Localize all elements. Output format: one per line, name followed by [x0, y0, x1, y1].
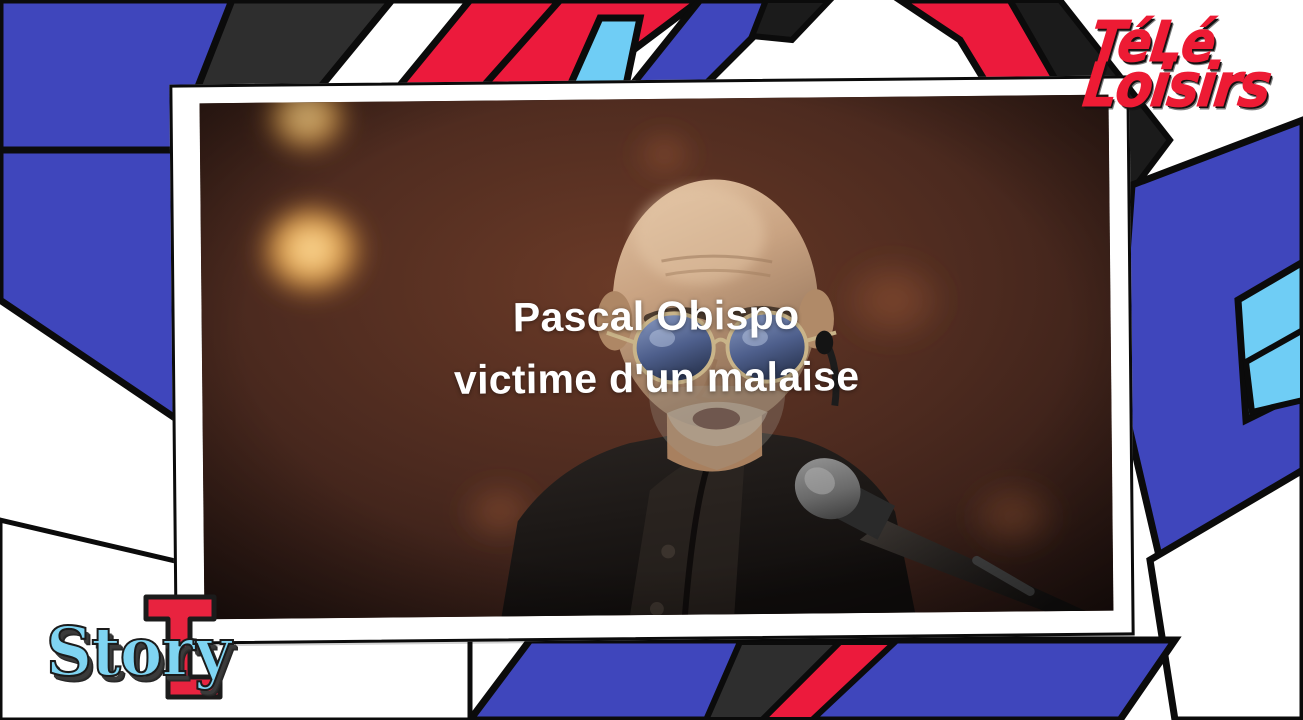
screenshot-root: Pascal Obispo victime d'un malaise TéLé … — [0, 0, 1303, 720]
stage-photo — [200, 95, 1114, 620]
video-card[interactable]: Pascal Obispo victime d'un malaise — [169, 75, 1134, 644]
video-frame[interactable]: Pascal Obispo victime d'un malaise — [200, 95, 1114, 620]
